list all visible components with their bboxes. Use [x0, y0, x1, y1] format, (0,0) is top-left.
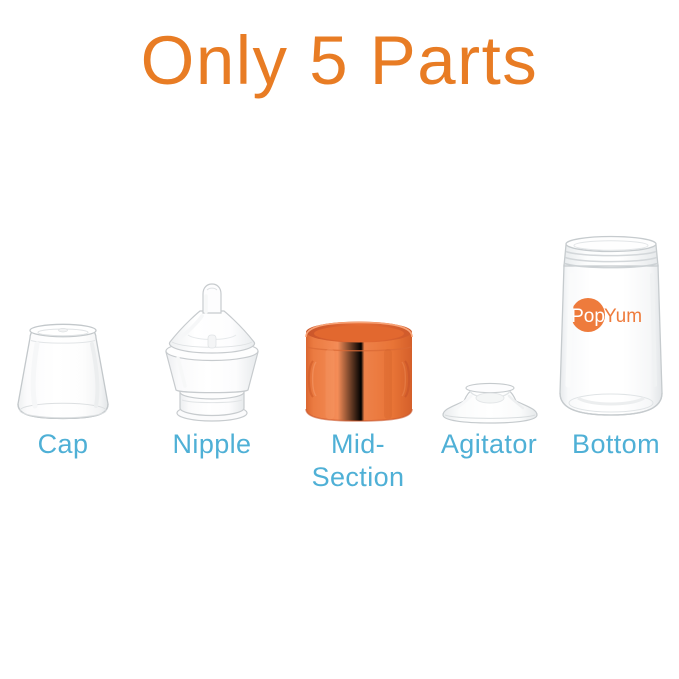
bottle-mid-section-orange-icon [300, 317, 418, 425]
page-title: Only 5 Parts [0, 20, 679, 102]
bottle-nipple-clear-icon [158, 280, 266, 425]
part-mid-section [300, 317, 418, 425]
label-bottom: Bottom [553, 428, 679, 461]
logo-word-text: Yum [604, 306, 642, 327]
infographic-canvas: Only 5 Parts [0, 0, 679, 679]
part-bottom: Pop Yum [556, 235, 666, 425]
bottle-bottom-jar-clear-icon: Pop Yum [556, 235, 666, 425]
part-nipple [158, 280, 266, 425]
label-agitator: Agitator [421, 428, 557, 461]
label-nipple: Nipple [149, 428, 275, 461]
part-cap [13, 318, 113, 425]
label-cap: Cap [0, 428, 126, 461]
parts-row: Pop Yum [0, 225, 679, 425]
part-agitator [440, 379, 540, 425]
label-mid-section: Mid- Section [295, 428, 421, 494]
bottle-cap-clear-icon [13, 318, 113, 425]
bottle-agitator-disc-clear-icon [440, 379, 540, 425]
logo-circle-text: Pop [571, 306, 605, 327]
